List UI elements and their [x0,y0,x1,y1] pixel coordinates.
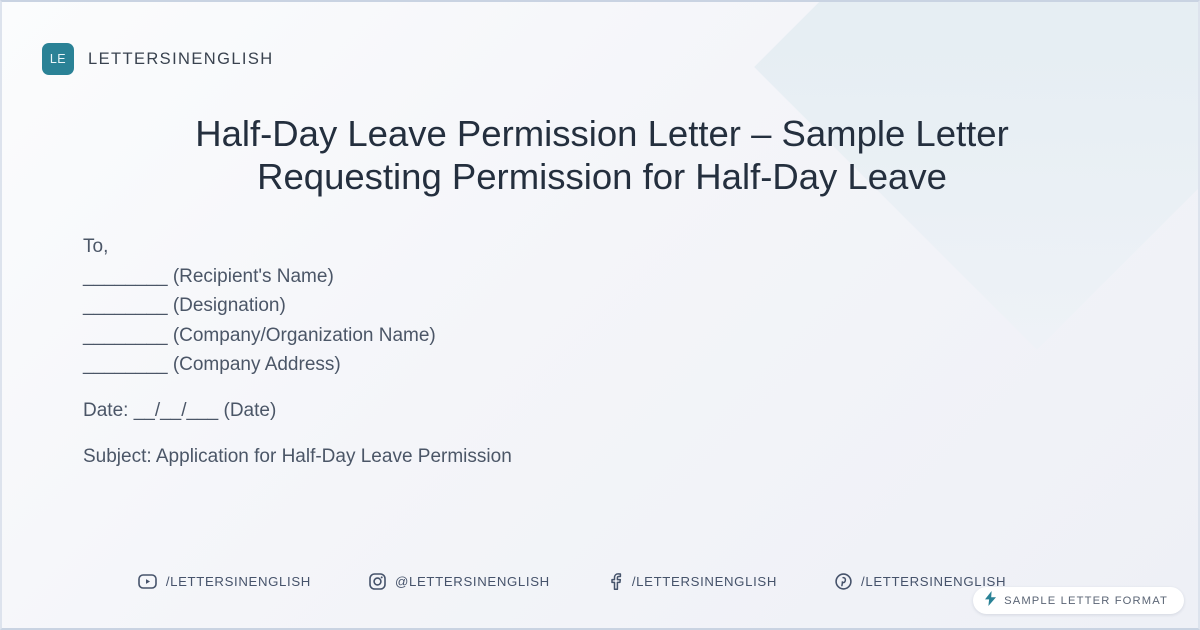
social-handle: /LETTERSINENGLISH [166,574,311,589]
letter-subject: Subject: Application for Half-Day Leave … [83,442,923,472]
letter-body: To, ________ (Recipient's Name) ________… [83,232,923,471]
page-title: Half-Day Leave Permission Letter – Sampl… [102,112,1102,198]
social-handle: @LETTERSINENGLISH [395,574,550,589]
address-line-address: ________ (Company Address) [83,350,923,380]
letter-date: Date: __/__/___ (Date) [83,396,923,426]
poster-canvas: LE LETTERSINENGLISH Half-Day Leave Permi… [0,0,1200,630]
social-handle: /LETTERSINENGLISH [632,574,777,589]
address-line-company: ________ (Company/Organization Name) [83,321,923,351]
instagram-icon [369,573,386,590]
social-item-instagram[interactable]: @LETTERSINENGLISH [369,573,550,590]
facebook-icon [608,573,623,590]
address-line-designation: ________ (Designation) [83,291,923,321]
badge-label: SAMPLE LETTER FORMAT [1004,595,1168,607]
letter-salutation: To, [83,232,923,262]
brand-logo-mark: LE [42,43,74,75]
social-item-facebook[interactable]: /LETTERSINENGLISH [608,573,777,590]
sample-letter-format-badge[interactable]: SAMPLE LETTER FORMAT [973,587,1184,614]
brand-header: LE LETTERSINENGLISH [42,43,274,75]
pinterest-icon [835,573,852,590]
lightning-bolt-icon [985,591,996,611]
social-item-youtube[interactable]: /LETTERSINENGLISH [138,574,311,589]
address-line-recipient: ________ (Recipient's Name) [83,262,923,292]
brand-name: LETTERSINENGLISH [88,50,274,69]
youtube-icon [138,574,157,589]
